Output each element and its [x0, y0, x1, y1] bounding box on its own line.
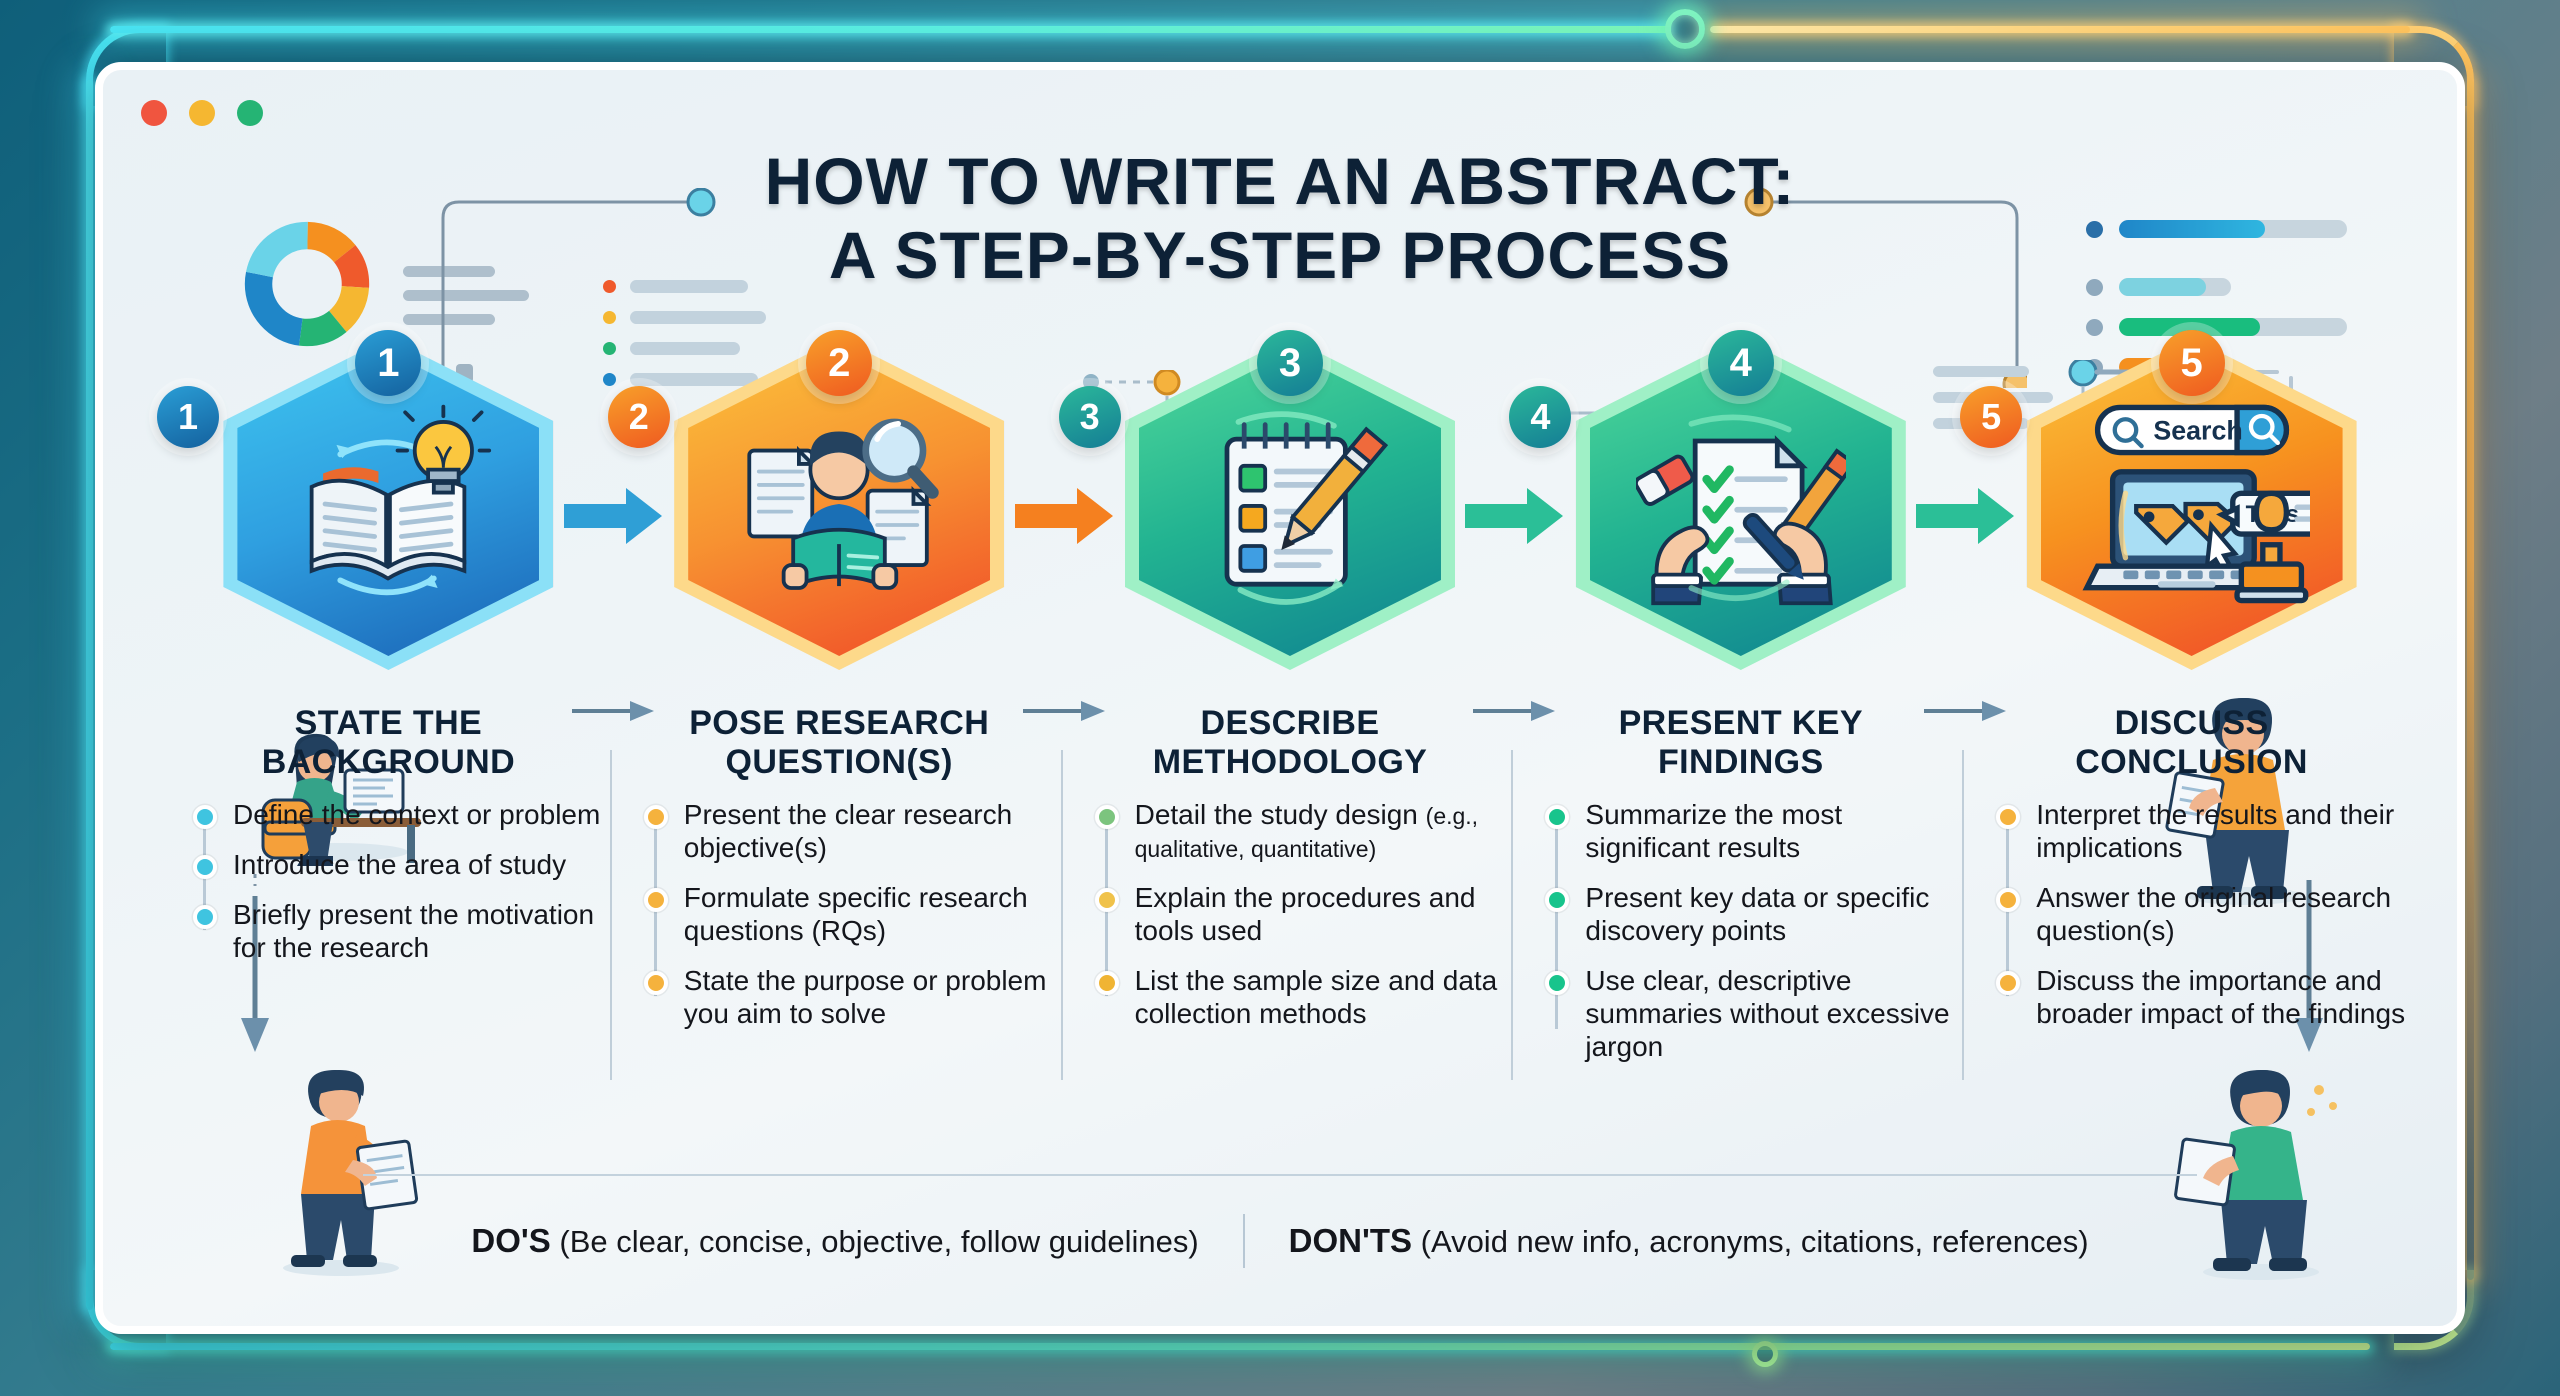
bullet-text: State the purpose or problem you aim to …: [684, 964, 1057, 1030]
step-4-title-line-1: PRESENT KEY: [1619, 704, 1863, 742]
dos-note: DO'S (Be clear, concise, objective, foll…: [427, 1222, 1242, 1260]
step-4-flow-arrow-icon: [1916, 488, 2014, 544]
list-item: Introduce the area of study: [193, 848, 606, 881]
bullet-dot: [644, 971, 668, 995]
hands-checklist-pen-eraser-icon: [1636, 399, 1846, 609]
bullet-text: Briefly present the motivation for the r…: [233, 898, 606, 964]
list-item: Formulate specific research questions (R…: [644, 881, 1057, 947]
bullet-text: Answer the original research question(s): [2036, 881, 2409, 947]
title-line-1: HOW TO WRITE AN ABSTRACT:: [103, 148, 2457, 215]
step-2-title: POSE RESEARCH QUESTION(S): [614, 704, 1065, 782]
bullet-dot: [193, 805, 217, 829]
page-title: HOW TO WRITE AN ABSTRACT: A STEP-BY-STEP…: [103, 148, 2457, 296]
list-item: Use clear, descriptive summaries without…: [1545, 964, 1958, 1063]
step-2-title-line-1: POSE RESEARCH: [689, 704, 989, 742]
neon-node-bottom-center: [1752, 1341, 1778, 1367]
bullet-text: Present key data or specific discovery p…: [1585, 881, 1958, 947]
step-1-title-line-1: STATE THE: [295, 704, 482, 742]
step-1-bullets: Define the context or problem Introduce …: [163, 798, 614, 964]
list-item: Discuss the importance and broader impac…: [1996, 964, 2409, 1030]
title-line-2: A STEP-BY-STEP PROCESS: [103, 215, 2457, 296]
step-3-hex-wrap: 3 3: [1065, 338, 1516, 688]
neon-edge-right: [2467, 80, 2474, 1280]
step-2-bullets: Present the clear research objective(s) …: [614, 798, 1065, 1030]
step-5-hex-wrap: Search: [1966, 338, 2417, 688]
list-item: Present key data or specific discovery p…: [1545, 881, 1958, 947]
laptop-search-tags-stamp-icon: Search: [2074, 386, 2310, 622]
maximize-dot[interactable]: [237, 100, 263, 126]
step-5: Search: [1966, 338, 2417, 1047]
list-item: Answer the original research question(s): [1996, 881, 2409, 947]
step-3-title: DESCRIBE METHODOLOGY: [1065, 704, 1516, 782]
step-3: 3 3 DESCRIBE METHODOLOGY Detail the st: [1065, 338, 1516, 1047]
step-4: 4 4 PRESENT KEY FINDINGS Summarize the: [1515, 338, 1966, 1080]
donts-label: DON'TS: [1289, 1222, 1412, 1259]
step-4-hex-wrap: 4 4: [1515, 338, 1966, 688]
step-4-title-line-2: FINDINGS: [1658, 743, 1824, 781]
bullet-text: Detail the study design: [1135, 799, 1426, 830]
step-3-divider: [1061, 750, 1063, 1080]
bullet-text: Summarize the most significant results: [1585, 798, 1958, 864]
dos-text: (Be clear, concise, objective, follow gu…: [551, 1224, 1199, 1259]
step-2-badge-top: 2: [806, 330, 872, 396]
bullet-dot: [193, 855, 217, 879]
step-4-title: PRESENT KEY FINDINGS: [1515, 704, 1966, 782]
bullet-dot: [1996, 971, 2020, 995]
neon-edge-top-left: [110, 26, 1670, 33]
step-2-badge-left: 2: [608, 386, 670, 448]
window-controls: [141, 100, 263, 126]
step-3-badge-left: 3: [1059, 386, 1121, 448]
step-3-bullets: Detail the study design (e.g., qualitati…: [1065, 798, 1516, 1030]
infographic-card: HOW TO WRITE AN ABSTRACT: A STEP-BY-STEP…: [95, 62, 2465, 1334]
bullet-dot: [644, 805, 668, 829]
bullet-text: List the sample size and data collection…: [1135, 964, 1508, 1030]
step-5-badge-top: 5: [2159, 330, 2225, 396]
bullet-text: Present the clear research objective(s): [684, 798, 1057, 864]
bullet-text: Define the context or problem: [233, 798, 600, 831]
step-1-badge-left: 1: [157, 386, 219, 448]
neon-edge-top-right: [1710, 26, 2410, 33]
bullet-dot: [1996, 888, 2020, 912]
bullet-dot: [1545, 888, 1569, 912]
bullet-dot: [1095, 971, 1119, 995]
bullet-dot: [1545, 971, 1569, 995]
footer: DO'S (Be clear, concise, objective, foll…: [103, 1214, 2457, 1268]
list-item: Summarize the most significant results: [1545, 798, 1958, 864]
search-label: Search: [2153, 416, 2242, 446]
bullet-text: Introduce the area of study: [233, 848, 566, 881]
step-3-title-line-1: DESCRIBE: [1201, 704, 1380, 742]
bullet-dot: [1095, 805, 1119, 829]
list-item: Briefly present the motivation for the r…: [193, 898, 606, 964]
list-item: List the sample size and data collection…: [1095, 964, 1508, 1030]
list-item: Detail the study design (e.g., qualitati…: [1095, 798, 1508, 864]
step-5-divider: [1962, 750, 1964, 1080]
step-1-title: STATE THE BACKGROUND: [163, 704, 614, 782]
steps-row: 1 1 STATE THE BACKGROUND Define the co: [163, 338, 2417, 1080]
reader-magnifier-documents-icon: [734, 399, 944, 609]
step-2-flow-arrow-icon: [1015, 488, 1113, 544]
donts-note: DON'TS (Avoid new info, acronyms, citati…: [1245, 1222, 2133, 1260]
step-5-title-line-1: DISCUSS: [2115, 704, 2269, 742]
neon-edge-bottom: [110, 1343, 2370, 1350]
step-5-title-line-2: CONCLUSION: [2075, 743, 2308, 781]
list-item: Interpret the results and their implicat…: [1996, 798, 2409, 864]
bullet-dot: [193, 905, 217, 929]
step-5-title: DISCUSS CONCLUSION: [1966, 704, 2417, 782]
open-book-lightbulb-icon: [283, 399, 493, 609]
bullet-dot: [644, 888, 668, 912]
donts-text: (Avoid new info, acronyms, citations, re…: [1412, 1224, 2089, 1259]
step-4-divider: [1511, 750, 1513, 1080]
notepad-pencil-checklist-icon: [1185, 399, 1395, 609]
step-2-title-line-2: QUESTION(S): [726, 743, 953, 781]
step-1-title-line-2: BACKGROUND: [262, 743, 515, 781]
footer-divider: [363, 1174, 2197, 1176]
bullet-text: Use clear, descriptive summaries without…: [1585, 964, 1958, 1063]
step-1-hex-wrap: 1 1: [163, 338, 614, 688]
neon-edge-left: [86, 80, 93, 1310]
dos-label: DO'S: [471, 1222, 550, 1259]
step-2-divider: [610, 750, 612, 1080]
bullet-dot: [1095, 888, 1119, 912]
bullet-text: Explain the procedures and tools used: [1135, 881, 1508, 947]
step-3-flow-arrow-icon: [1465, 488, 1563, 544]
list-item: Explain the procedures and tools used: [1095, 881, 1508, 947]
close-dot[interactable]: [141, 100, 167, 126]
infographic-stage: HOW TO WRITE AN ABSTRACT: A STEP-BY-STEP…: [0, 0, 2560, 1396]
step-1: 1 1 STATE THE BACKGROUND Define the co: [163, 338, 614, 981]
bullet-text: Discuss the importance and broader impac…: [2036, 964, 2409, 1030]
step-3-title-line-2: METHODOLOGY: [1153, 743, 1428, 781]
step-2: 2 2 POSE RESEARCH QUESTION(S) Present: [614, 338, 1065, 1047]
list-item: Present the clear research objective(s): [644, 798, 1057, 864]
step-1-flow-arrow-icon: [564, 488, 662, 544]
bullet-text: Formulate specific research questions (R…: [684, 881, 1057, 947]
step-4-bullets: Summarize the most significant results P…: [1515, 798, 1966, 1063]
step-5-badge-left: 5: [1960, 386, 2022, 448]
step-4-badge-left: 4: [1509, 386, 1571, 448]
bullet-dot: [1996, 805, 2020, 829]
step-5-bullets: Interpret the results and their implicat…: [1966, 798, 2417, 1030]
step-1-badge-top: 1: [355, 330, 421, 396]
bullet-text: Interpret the results and their implicat…: [2036, 798, 2409, 864]
step-2-hex-wrap: 2 2: [614, 338, 1065, 688]
neon-node-top-center: [1665, 9, 1705, 49]
list-item: State the purpose or problem you aim to …: [644, 964, 1057, 1030]
bullet-dot: [1545, 805, 1569, 829]
minimize-dot[interactable]: [189, 100, 215, 126]
step-4-badge-top: 4: [1708, 330, 1774, 396]
list-item: Define the context or problem: [193, 798, 606, 831]
step-3-badge-top: 3: [1257, 330, 1323, 396]
